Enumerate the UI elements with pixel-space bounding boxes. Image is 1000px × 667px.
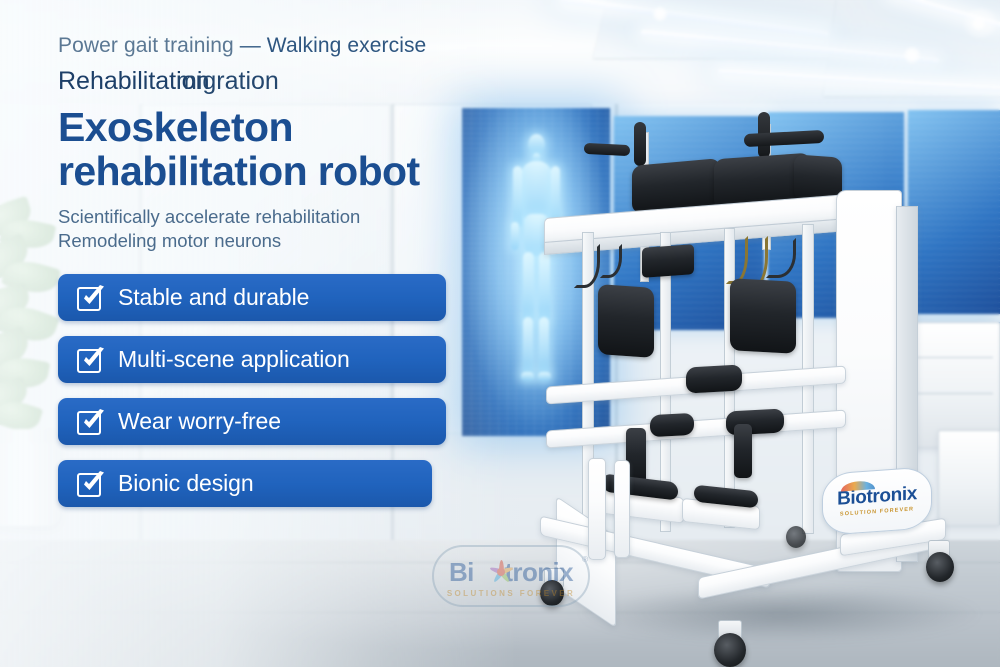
cable (574, 244, 600, 288)
watermark-brand-head: Bi (449, 557, 474, 587)
copy-block: Power gait training — Walking exercise R… (58, 34, 528, 522)
watermark-brand-tail: tronix (504, 557, 573, 587)
caster-wheel (786, 526, 806, 548)
base-frame (614, 460, 630, 558)
handle-grip (634, 122, 646, 166)
registered-mark: ® (582, 555, 588, 564)
checkbox-checked-icon (75, 345, 105, 375)
headline-line-2: rehabilitation robot (58, 149, 528, 193)
checkbox-checked-icon (75, 283, 105, 313)
ceiling-spotlight (903, 46, 921, 64)
caster-wheel (714, 633, 746, 667)
checkbox-checked-icon (75, 469, 105, 499)
product-brand-badge: Biotronix SOLUTION FOREVER (822, 466, 932, 536)
feature-list: Stable and durable Multi-scene applicati… (58, 274, 446, 507)
knee-support-pad (650, 413, 694, 437)
subtitle-line-1: Scientifically accelerate rehabilitation (58, 205, 528, 230)
feature-item-multi-scene-application[interactable]: Multi-scene application (58, 336, 446, 383)
feature-label: Wear worry-free (118, 408, 281, 435)
knee-support-pad (686, 365, 742, 394)
feature-item-stable-and-durable[interactable]: Stable and durable (58, 274, 446, 321)
actuator-module (642, 244, 694, 278)
headline-line-1: Exoskeleton (58, 105, 528, 149)
checkbox-checked-icon (75, 407, 105, 437)
cable (766, 238, 796, 278)
eyebrow-main: Power gait training (58, 34, 240, 57)
feature-item-wear-worry-free[interactable]: Wear worry-free (58, 398, 446, 445)
linear-actuator (734, 424, 752, 478)
kicker-secondary: migration (176, 67, 279, 96)
subtitle-line-2: Remodeling motor neurons (58, 229, 528, 254)
feature-label: Stable and durable (118, 284, 309, 311)
thigh-support-pad (598, 284, 654, 358)
eyebrow-text: Power gait training — Walking exercise (58, 34, 528, 58)
handle-grip (584, 143, 631, 156)
eyebrow-accent: — Walking exercise (240, 34, 427, 57)
watermark-tagline: SOLUTIONS FOREVER (432, 589, 590, 598)
ceiling-spotlight (960, 8, 1000, 38)
thigh-support-pad (730, 278, 796, 353)
base-frame (588, 458, 606, 560)
feature-label: Multi-scene application (118, 346, 350, 373)
handle-grip (744, 130, 825, 147)
pinwheel-logo-icon (488, 559, 514, 585)
feature-label: Bionic design (118, 470, 254, 497)
page-title: Exoskeleton rehabilitation robot (58, 105, 528, 194)
ceiling-spotlight (652, 6, 668, 22)
cable (600, 244, 622, 278)
caster-wheel (926, 552, 954, 582)
kicker-overlap-group: Rehabilitation migration (58, 67, 528, 101)
subtitle: Scientifically accelerate rehabilitation… (58, 205, 528, 255)
feature-item-bionic-design[interactable]: Bionic design (58, 460, 432, 507)
exoskeleton-rehabilitation-robot (548, 128, 980, 640)
watermark-logo: Biootronix ® SOLUTIONS FOREVER (432, 545, 590, 607)
promo-banner: Biotronix SOLUTION FOREVER Power gait tr… (0, 0, 1000, 667)
